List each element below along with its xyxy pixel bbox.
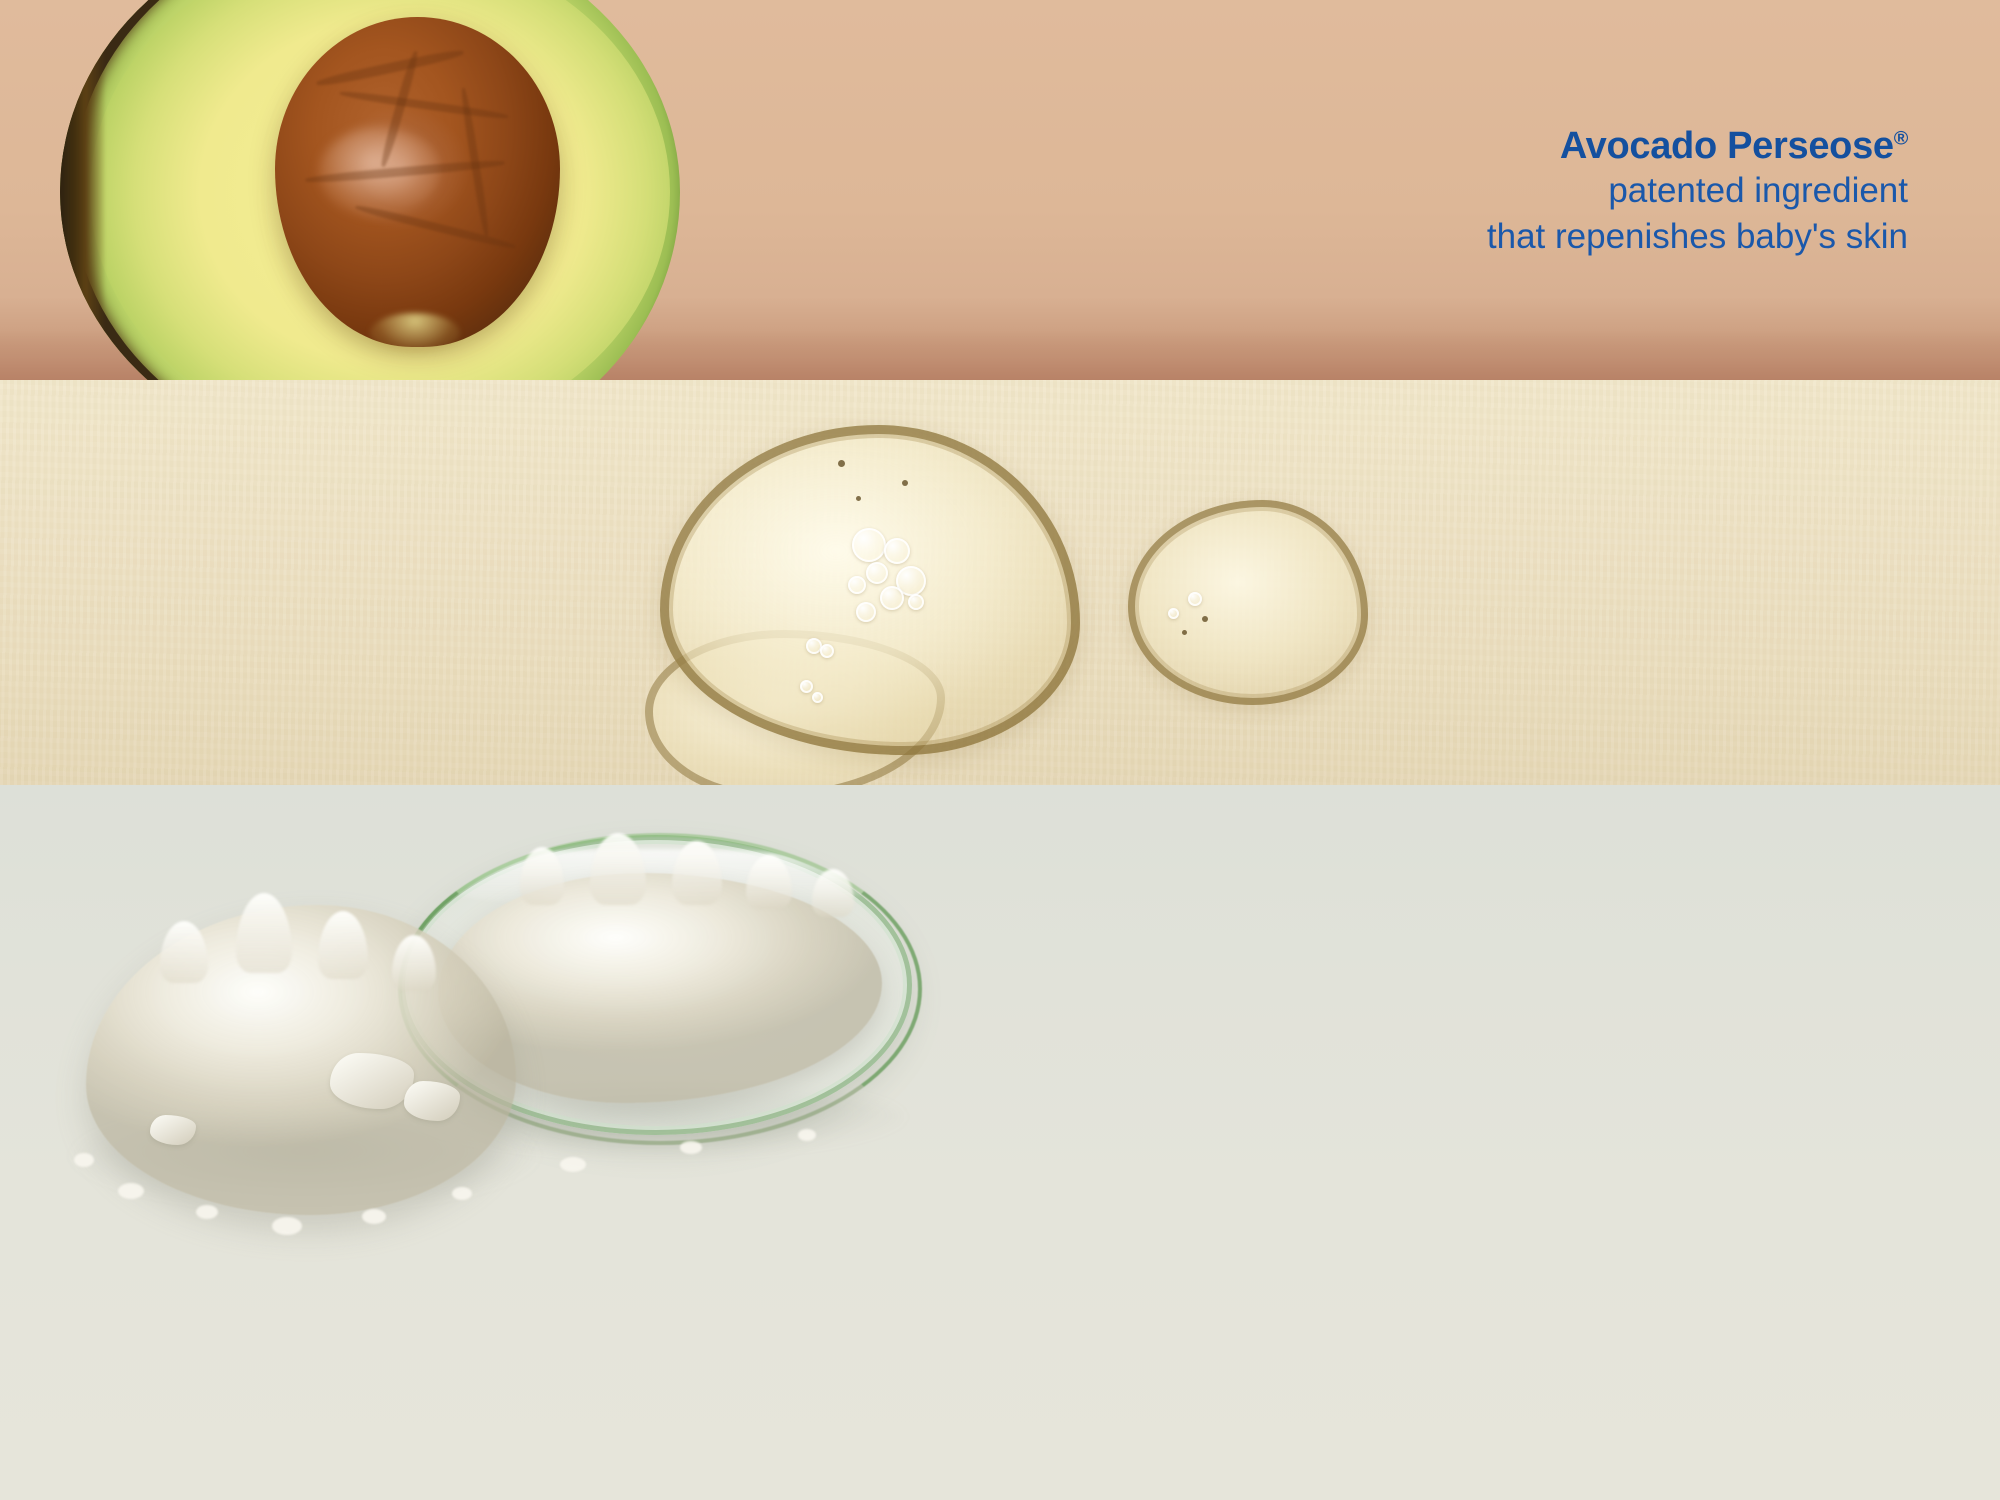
gel-bubble <box>908 594 924 610</box>
powder-dust <box>196 1205 218 1219</box>
gel-speck <box>1202 616 1208 622</box>
avocado-title: Avocado Perseose® <box>1487 126 1908 166</box>
ingredients-infographic: Avocado Perseose® patented ingredient th… <box>0 0 2000 1500</box>
powder-crumb <box>150 1115 196 1145</box>
panel-hyaluronic-acid: Hyaluronic acid provides deep hydration <box>0 380 2000 785</box>
gel-bubble <box>800 680 813 693</box>
avocado-skin <box>60 0 680 380</box>
gel-bubble <box>848 576 866 594</box>
gel-speck <box>856 496 861 501</box>
gel-bubble <box>820 644 834 658</box>
gel-bubble <box>856 602 876 622</box>
powder-crumb <box>404 1081 460 1121</box>
gel-bubble <box>1188 592 1202 606</box>
powder-dust <box>452 1187 472 1200</box>
powder-dust <box>680 1141 702 1154</box>
powder-dust <box>74 1153 94 1167</box>
powder-dust <box>362 1209 386 1224</box>
avocado-skin-edge <box>60 0 106 380</box>
avocado-subtitle-line-1: patented ingredient <box>1487 170 1908 211</box>
powder-dust <box>798 1129 816 1141</box>
gel-speck <box>902 480 908 486</box>
gel-bubble <box>880 586 904 610</box>
panel-copper-zinc: Copper-Zinc purifies the epidermis <box>0 785 2000 1500</box>
powder-crumb <box>330 1053 414 1109</box>
gel-bubble <box>852 528 886 562</box>
gel-speck <box>838 460 845 467</box>
gel-speck <box>1182 630 1187 635</box>
gel-bubble <box>1168 608 1179 619</box>
powder-dust <box>118 1183 144 1199</box>
avocado-image <box>60 0 680 380</box>
avocado-subtitle-line-2: that repenishes baby's skin <box>1487 216 1908 257</box>
avocado-caption: Avocado Perseose® patented ingredient th… <box>1487 126 1908 257</box>
gel-bubble <box>884 538 910 564</box>
powder-dust <box>272 1217 302 1235</box>
powder-dust <box>560 1157 586 1172</box>
registered-trademark-icon: ® <box>1894 127 1908 149</box>
gel-bubble <box>812 692 823 703</box>
panel-avocado: Avocado Perseose® patented ingredient th… <box>0 0 2000 380</box>
gel-bubble <box>866 562 888 584</box>
